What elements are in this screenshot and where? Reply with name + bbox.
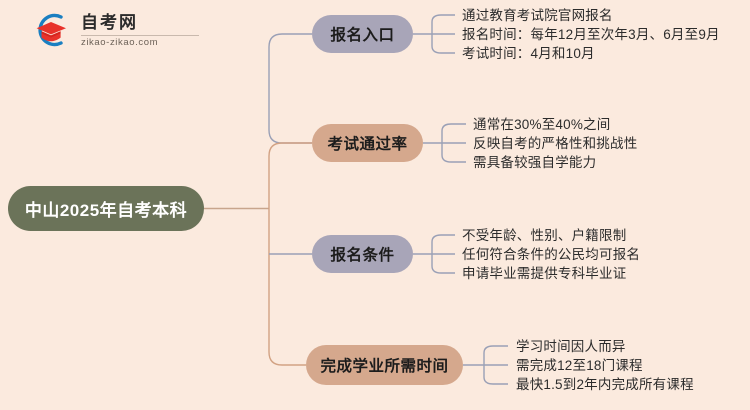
leaf-branch-1-item-1: 通过教育考试院官网报名 [462,9,613,23]
leaf-branch-1-item-3: 考试时间：4月和10月 [462,47,595,61]
leaf-branch-2-item-3: 需具备较强自学能力 [473,156,596,170]
connector-branch-3-leaf-1 [432,235,455,242]
connector-trunk-upper [269,34,312,143]
connector-branch-1-leaf-1 [432,15,455,22]
logo-title: 自考网 [81,14,138,32]
connector-branch-4-leaf-1 [484,346,508,353]
graduation-cap-icon [30,10,74,50]
site-logo: 自考网 zikao-zikao.com [30,10,199,50]
leaf-branch-4-item-1: 学习时间因人而异 [516,340,626,354]
leaf-branch-2-item-1: 通常在30%至40%之间 [473,118,610,132]
logo-text-group: 自考网 zikao-zikao.com [81,12,199,48]
logo-domain: zikao-zikao.com [81,38,158,48]
mindmap-root-node[interactable]: 中山2025年自考本科 [8,186,204,231]
logo-divider [81,35,199,36]
connector-trunk-lower [269,143,312,365]
branch-node-baomingtiaojian[interactable]: 报名条件 [312,235,413,273]
leaf-branch-4-item-3: 最快1.5到2年内完成所有课程 [516,378,694,392]
connector-branch-1-leaf-3 [432,46,455,53]
leaf-branch-2-item-2: 反映自考的严格性和挑战性 [473,137,637,151]
branch-node-wanchengxueye[interactable]: 完成学业所需时间 [306,345,463,385]
leaf-branch-4-item-2: 需完成12至18门课程 [516,359,643,373]
branch-node-baomingrukou[interactable]: 报名入口 [312,15,413,53]
connector-branch-3-leaf-3 [432,266,455,273]
mindmap-canvas: 自考网 zikao-zikao.com [0,0,750,410]
leaf-branch-1-item-2: 报名时间：每年12月至次年3月、6月至9月 [462,28,720,42]
leaf-branch-3-item-2: 任何符合条件的公民均可报名 [462,248,640,262]
connector-branch-2-leaf-3 [442,155,466,162]
connector-branch-4-leaf-3 [484,377,508,384]
branch-node-kaoshitongguolv[interactable]: 考试通过率 [312,124,423,162]
connector-branch-2-leaf-1 [442,124,466,131]
leaf-branch-3-item-3: 申请毕业需提供专科毕业证 [462,267,626,281]
leaf-branch-3-item-1: 不受年龄、性别、户籍限制 [462,229,626,243]
